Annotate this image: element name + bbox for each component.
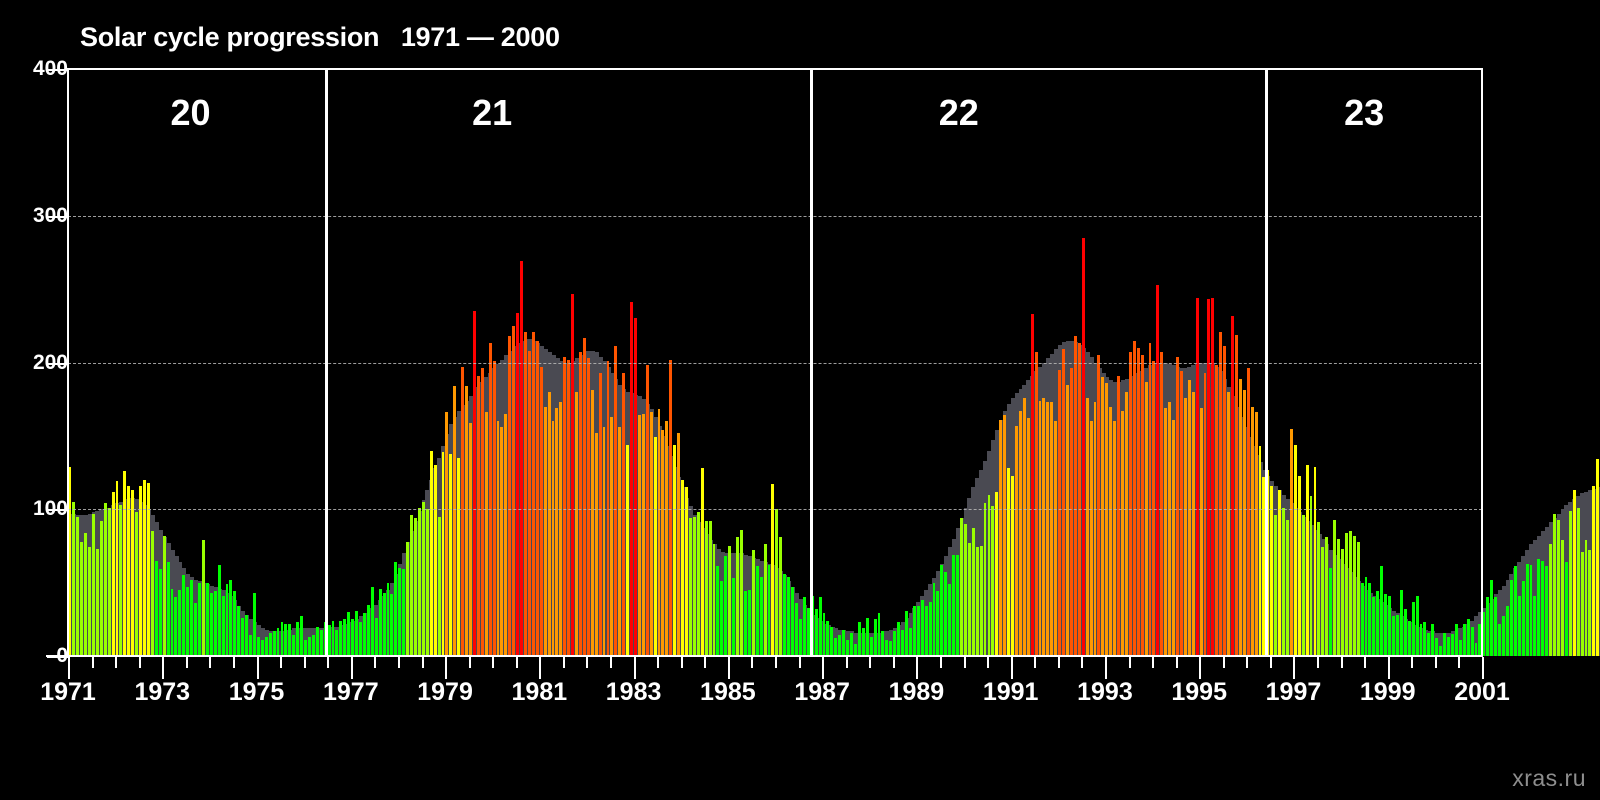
x-tick-minor [186,657,188,668]
x-tick-label: 1973 [134,678,190,707]
monthly-sunspot-bar [661,430,664,656]
x-tick-label: 1971 [40,678,96,707]
monthly-sunspot-bar [163,536,166,656]
monthly-sunspot-bar [1537,559,1540,656]
monthly-sunspot-bar [991,506,994,656]
monthly-sunspot-bar [917,606,920,656]
monthly-sunspot-bar [92,514,95,656]
monthly-sunspot-bar [1392,616,1395,656]
monthly-sunspot-bar [253,593,256,656]
x-tick-label: 2001 [1454,678,1510,707]
monthly-sunspot-bar [1003,415,1006,656]
monthly-sunspot-bar [367,605,370,656]
monthly-sunspot-bar [1526,564,1529,656]
monthly-sunspot-bar [1062,349,1065,656]
monthly-sunspot-bar [1239,379,1242,656]
monthly-sunspot-bar [1361,583,1364,656]
monthly-sunspot-bar [1349,531,1352,656]
monthly-sunspot-bar [1518,596,1521,656]
monthly-sunspot-bar [1553,514,1556,656]
cycle-divider [1265,69,1268,656]
x-tick-minor [139,657,141,668]
x-tick-minor [1364,657,1366,668]
monthly-sunspot-bar [1420,624,1423,656]
monthly-sunspot-bar [387,583,390,656]
monthly-sunspot-bar [1172,420,1175,656]
monthly-sunspot-bar [186,587,189,656]
x-tick-major [162,657,164,679]
monthly-sunspot-bar [1569,511,1572,656]
monthly-sunspot-bar [764,544,767,656]
monthly-sunspot-bar [1278,490,1281,656]
monthly-sunspot-bar [1541,561,1544,656]
monthly-sunspot-bar [1561,540,1564,656]
monthly-sunspot-bar [1235,335,1238,656]
x-tick-minor [1411,657,1413,668]
monthly-sunspot-bar [1011,476,1014,657]
monthly-sunspot-bar [1046,402,1049,656]
monthly-sunspot-bar [1282,508,1285,656]
monthly-sunspot-bar [909,628,912,656]
monthly-sunspot-bar [1117,376,1120,656]
monthly-sunspot-bar [988,495,991,656]
monthly-sunspot-bar [544,407,547,656]
monthly-sunspot-bar [194,603,197,656]
x-tick-label: 1989 [889,678,945,707]
monthly-sunspot-bar [1592,486,1595,656]
monthly-sunspot-bar [1145,382,1148,656]
monthly-sunspot-bar [1408,621,1411,656]
y-tick-label: 400 [33,57,68,81]
monthly-sunspot-bar [960,518,963,656]
monthly-sunspot-bar [512,326,515,656]
monthly-sunspot-bar [1486,597,1489,656]
monthly-sunspot-bar [744,591,747,656]
monthly-sunspot-bar [524,332,527,656]
cycle-label-20: 20 [171,92,211,134]
monthly-sunspot-bar [1585,540,1588,656]
monthly-sunspot-bar [579,352,582,656]
monthly-sunspot-bar [787,577,790,656]
monthly-sunspot-bar [1533,596,1536,656]
monthly-sunspot-bar [281,622,284,656]
monthly-sunspot-bar [701,468,704,656]
monthly-sunspot-bar [453,386,456,656]
monthly-sunspot-bar [779,537,782,656]
monthly-sunspot-bar [685,487,688,656]
x-tick-label: 1997 [1266,678,1322,707]
monthly-sunspot-bar [587,358,590,656]
monthly-sunspot-bar [1219,332,1222,656]
monthly-sunspot-bar [956,555,959,656]
x-tick-minor [1458,657,1460,668]
monthly-sunspot-bar [335,630,338,656]
monthly-sunspot-bar [339,621,342,656]
x-tick-label: 1983 [606,678,662,707]
monthly-sunspot-bar [1109,407,1112,656]
monthly-sunspot-bar [167,562,170,656]
monthly-sunspot-bar [984,503,987,656]
monthly-sunspot-bar [1368,583,1371,656]
x-tick-minor [374,657,376,668]
x-tick-minor [280,657,282,668]
monthly-sunspot-bar [862,628,865,656]
monthly-sunspot-bar [540,367,543,656]
monthly-sunspot-bar [398,568,401,656]
monthly-sunspot-bar [363,613,366,656]
x-tick-minor [1176,657,1178,668]
monthly-sunspot-bar [1416,596,1419,656]
x-tick-minor [492,657,494,668]
x-tick-minor [1317,657,1319,668]
monthly-sunspot-bar [477,376,480,656]
monthly-sunspot-bar [995,492,998,656]
monthly-sunspot-bar [426,509,429,656]
x-tick-minor [775,657,777,668]
monthly-sunspot-bar [1581,552,1584,656]
monthly-sunspot-bar [646,365,649,656]
x-tick-major [916,657,918,679]
monthly-sunspot-bar [300,616,303,656]
gridline [68,363,1482,364]
monthly-sunspot-bar [284,624,287,656]
x-tick-major [257,657,259,679]
monthly-sunspot-bar [724,556,727,656]
monthly-sunspot-bar [143,480,146,656]
monthly-sunspot-bar [980,546,983,656]
x-tick-major [822,657,824,679]
monthly-sunspot-bar [469,423,472,656]
monthly-sunspot-bar [940,565,943,656]
monthly-sunspot-bar [1039,401,1042,656]
monthly-sunspot-bar [1054,421,1057,656]
x-tick-label: 1993 [1077,678,1133,707]
x-tick-minor [563,657,565,668]
x-tick-minor [893,657,895,668]
monthly-sunspot-bar [516,313,519,656]
monthly-sunspot-bar [1302,515,1305,656]
monthly-sunspot-bar [214,591,217,656]
monthly-sunspot-bar [823,613,826,656]
x-tick-major [1293,657,1295,679]
monthly-sunspot-bar [756,566,759,656]
monthly-sunspot-bar [520,261,523,656]
monthly-sunspot-bar [595,433,598,656]
x-tick-minor [115,657,117,668]
monthly-sunspot-bar [807,608,810,656]
monthly-sunspot-bar [308,637,311,656]
monthly-sunspot-bar [575,392,578,656]
x-tick-minor [398,657,400,668]
x-tick-label: 1995 [1171,678,1227,707]
monthly-sunspot-bar [1243,390,1246,656]
monthly-sunspot-bar [732,578,735,656]
x-tick-minor [681,657,683,668]
monthly-sunspot-bar [1467,619,1470,656]
monthly-sunspot-bar [881,631,884,656]
x-tick-minor [469,657,471,668]
monthly-sunspot-bar [933,583,936,656]
x-tick-minor [1081,657,1083,668]
monthly-sunspot-bar [1435,638,1438,656]
monthly-sunspot-bar [116,481,119,656]
monthly-sunspot-bar [1463,624,1466,656]
monthly-sunspot-bar [229,580,232,656]
monthly-sunspot-bar [1042,398,1045,656]
monthly-sunspot-bar [634,318,637,656]
x-tick-label: 1985 [700,678,756,707]
monthly-sunspot-bar [583,338,586,656]
monthly-sunspot-bar [1121,411,1124,656]
x-tick-minor [233,657,235,668]
monthly-sunspot-bar [198,583,201,656]
monthly-sunspot-bar [1074,336,1077,656]
monthly-sunspot-bar [84,533,87,656]
monthly-sunspot-bar [1471,627,1474,656]
gridline [68,216,1482,217]
monthly-sunspot-bar [442,452,445,656]
monthly-sunspot-bar [1227,392,1230,656]
monthly-sunspot-bar [893,631,896,656]
monthly-sunspot-bar [1207,299,1210,656]
monthly-sunspot-bar [1396,615,1399,656]
monthly-sunspot-bar [1522,581,1525,656]
monthly-sunspot-bar [713,544,716,656]
monthly-sunspot-bar [826,621,829,656]
monthly-sunspot-bar [1298,476,1301,657]
monthly-sunspot-bar [182,575,185,656]
monthly-sunspot-bar [1573,490,1576,656]
x-tick-minor [751,657,753,668]
monthly-sunspot-bar [449,454,452,657]
monthly-sunspot-bar [830,627,833,656]
monthly-sunspot-bar [630,302,633,656]
monthly-sunspot-bar [489,343,492,656]
y-tick-label: 200 [33,351,68,375]
monthly-sunspot-bar [210,593,213,656]
monthly-sunspot-bar [218,565,221,656]
monthly-sunspot-bar [1274,515,1277,656]
monthly-sunspot-bar [819,597,822,656]
monthly-sunspot-bar [410,515,413,656]
monthly-sunspot-bar [1388,596,1391,656]
monthly-sunspot-bar [913,606,916,656]
monthly-sunspot-bar [972,528,975,656]
x-tick-minor [1341,657,1343,668]
monthly-sunspot-bar [1215,365,1218,656]
monthly-sunspot-bar [112,492,115,656]
x-tick-minor [964,657,966,668]
monthly-sunspot-bar [265,637,268,656]
monthly-sunspot-bar [312,635,315,656]
monthly-sunspot-bar [1164,408,1167,656]
monthly-sunspot-bar [465,386,468,656]
monthly-sunspot-bar [1314,467,1317,656]
monthly-sunspot-bar [799,619,802,656]
x-tick-minor [610,657,612,668]
monthly-sunspot-bar [1270,486,1273,656]
monthly-sunspot-bar [273,631,276,656]
monthly-sunspot-bar [968,543,971,656]
monthly-sunspot-bar [1549,544,1552,656]
monthly-sunspot-bar [422,502,425,656]
x-tick-minor [586,657,588,668]
monthly-sunspot-bar [658,409,661,656]
monthly-sunspot-bar [1290,429,1293,656]
monthly-sunspot-bar [1510,580,1513,656]
monthly-sunspot-bar [1255,412,1258,656]
monthly-sunspot-bar [999,420,1002,656]
monthly-sunspot-bar [693,517,696,656]
monthly-sunspot-bar [555,408,558,656]
monthly-sunspot-bar [88,547,91,656]
monthly-sunspot-bar [1058,370,1061,656]
monthly-sunspot-bar [563,357,566,656]
monthly-sunspot-bar [610,417,613,656]
x-tick-major [1105,657,1107,679]
x-tick-major [1011,657,1013,679]
monthly-sunspot-bar [936,591,939,656]
plot-area [68,69,1482,656]
monthly-sunspot-bar [752,550,755,656]
monthly-sunspot-bar [858,622,861,656]
monthly-sunspot-bar [548,392,551,656]
monthly-sunspot-bar [783,574,786,656]
x-tick-major [539,657,541,679]
monthly-sunspot-bar [119,505,122,656]
monthly-sunspot-bar [1027,418,1030,656]
monthly-sunspot-bar [127,486,130,656]
monthly-sunspot-bar [481,368,484,656]
x-tick-label: 1977 [323,678,379,707]
monthly-sunspot-bar [1423,622,1426,656]
monthly-sunspot-bar [775,509,778,656]
monthly-sunspot-bar [1176,357,1179,656]
monthly-sunspot-bar [445,412,448,656]
monthly-sunspot-bar [355,611,358,656]
x-tick-label: 1999 [1360,678,1416,707]
monthly-sunspot-bar [1286,520,1289,656]
x-tick-minor [657,657,659,668]
monthly-sunspot-bar [1490,580,1493,656]
monthly-sunspot-bar [1031,314,1034,656]
monthly-sunspot-bar [846,640,849,656]
monthly-sunspot-bar [1502,616,1505,656]
monthly-sunspot-bar [1443,633,1446,656]
monthly-sunspot-bar [626,445,629,656]
x-tick-minor [1034,657,1036,668]
monthly-sunspot-bar [1019,411,1022,656]
x-tick-minor [1058,657,1060,668]
monthly-sunspot-bar [889,641,892,656]
monthly-sunspot-bar [1431,624,1434,656]
monthly-sunspot-bar [434,465,437,656]
x-tick-minor [327,657,329,668]
x-tick-minor [1270,657,1272,668]
monthly-sunspot-bar [673,445,676,656]
monthly-sunspot-bar [866,618,869,656]
monthly-sunspot-bar [1506,606,1509,656]
monthly-sunspot-bar [139,486,142,656]
monthly-sunspot-bar [716,566,719,656]
monthly-sunspot-bar [1294,445,1297,656]
monthly-sunspot-bar [897,622,900,656]
monthly-sunspot-bar [226,584,229,656]
monthly-sunspot-bar [1188,380,1191,656]
monthly-sunspot-bar [343,619,346,656]
monthly-sunspot-bar [677,433,680,656]
monthly-sunspot-bar [390,594,393,656]
monthly-sunspot-bar [901,630,904,656]
monthly-sunspot-bar [948,584,951,656]
monthly-sunspot-bar [1353,536,1356,656]
monthly-sunspot-bar [1384,594,1387,656]
monthly-sunspot-bar [591,390,594,656]
monthly-sunspot-bar [1498,624,1501,656]
monthly-sunspot-bar [870,637,873,656]
monthly-sunspot-bar [508,336,511,656]
x-tick-minor [92,657,94,668]
monthly-sunspot-bar [1078,343,1081,656]
monthly-sunspot-bar [320,630,323,656]
monthly-sunspot-bar [257,637,260,656]
monthly-sunspot-bar [1317,522,1320,656]
monthly-sunspot-bar [740,530,743,656]
monthly-sunspot-bar [1337,539,1340,656]
x-tick-minor [209,657,211,668]
monthly-sunspot-bar [768,565,771,656]
monthly-sunspot-bar [332,621,335,656]
monthly-sunspot-bar [1097,355,1100,656]
monthly-sunspot-bar [1090,421,1093,656]
monthly-sunspot-bar [705,521,708,656]
chart-root: Solar cycle progression 1971 — 2000 0100… [0,0,1600,800]
monthly-sunspot-bar [406,542,409,656]
monthly-sunspot-bar [748,590,751,656]
monthly-sunspot-bar [1196,298,1199,656]
x-tick-minor [1152,657,1154,668]
x-tick-label: 1981 [512,678,568,707]
monthly-sunspot-bar [736,537,739,656]
monthly-sunspot-bar [1149,343,1152,656]
monthly-sunspot-bar [430,451,433,656]
monthly-sunspot-bar [171,589,174,657]
x-tick-major [1482,657,1484,679]
monthly-sunspot-bar [123,471,126,656]
monthly-sunspot-bar [1082,238,1085,656]
monthly-sunspot-bar [461,367,464,656]
monthly-sunspot-bar [249,635,252,656]
monthly-sunspot-bar [697,512,700,656]
monthly-sunspot-bar [174,597,177,656]
monthly-sunspot-bar [178,590,181,656]
monthly-sunspot-bar [1451,634,1454,656]
monthly-sunspot-bar [202,540,205,656]
monthly-sunspot-bar [438,517,441,656]
monthly-sunspot-bar [72,502,75,656]
monthly-sunspot-bar [1180,371,1183,656]
x-tick-major [634,657,636,679]
monthly-sunspot-bar [1223,346,1226,656]
monthly-sunspot-bar [1380,566,1383,656]
monthly-sunspot-bar [622,373,625,656]
monthly-sunspot-bar [618,427,621,656]
monthly-sunspot-bar [803,597,806,656]
monthly-sunspot-bar [1333,520,1336,656]
monthly-sunspot-bar [1321,547,1324,656]
monthly-sunspot-bar [1494,597,1497,656]
cycle-divider [325,69,328,656]
